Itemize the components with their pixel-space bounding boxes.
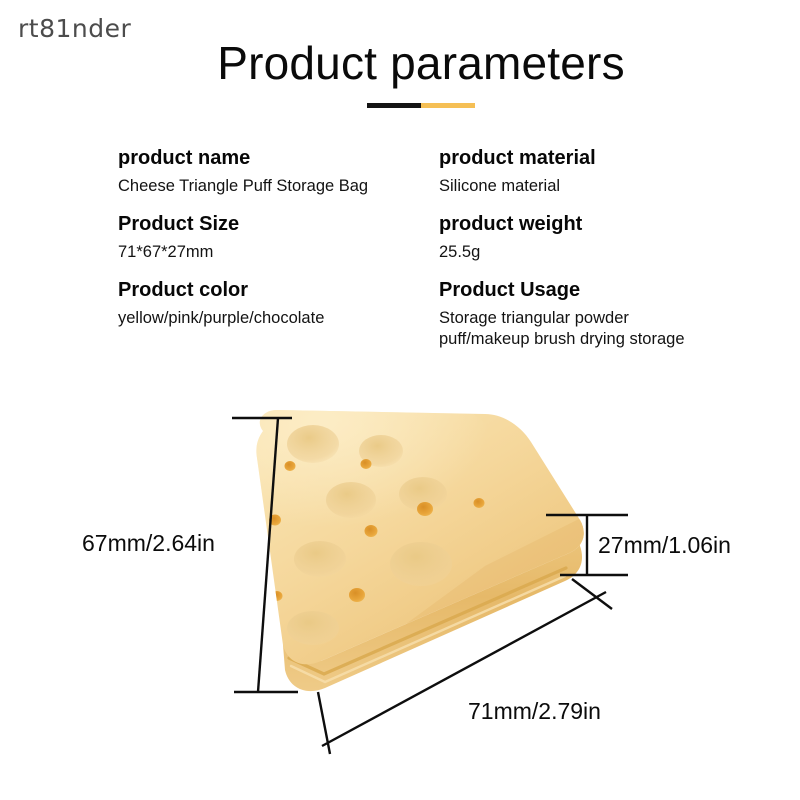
- cheese-hole: [474, 498, 485, 508]
- spec-label: product material: [439, 145, 752, 172]
- spec-cell-product-material: product material Silicone material: [438, 145, 758, 197]
- spec-row: Product Size 71*67*27mm product weight 2…: [118, 211, 778, 263]
- spec-label: product name: [118, 145, 432, 172]
- cheese-hole: [365, 525, 378, 537]
- cheese-dimple: [390, 542, 452, 586]
- product-parameters-table: product name Cheese Triangle Puff Storag…: [118, 145, 778, 364]
- spec-cell-product-size: Product Size 71*67*27mm: [118, 211, 438, 263]
- spec-cell-product-color: Product color yellow/pink/purple/chocola…: [118, 277, 438, 350]
- page-header: Product parameters: [0, 38, 800, 108]
- spec-label: Product Size: [118, 211, 432, 238]
- divider-segment-dark: [367, 103, 421, 108]
- dim-height-label: 67mm/2.64in: [82, 530, 215, 556]
- cheese-dimple: [287, 425, 339, 463]
- spec-value: yellow/pink/purple/chocolate: [118, 308, 432, 329]
- product-dimension-figure: 67mm/2.64in 27mm/1.06in 71mm/2.79in: [0, 396, 800, 800]
- spec-value: 25.5g: [439, 242, 752, 263]
- cheese-hole: [417, 502, 433, 516]
- cheese-hole: [285, 461, 296, 471]
- spec-value: Storage triangular powder puff/makeup br…: [439, 308, 752, 350]
- spec-value: Cheese Triangle Puff Storage Bag: [118, 176, 432, 197]
- cheese-dimple: [326, 482, 376, 518]
- dim-width-label: 71mm/2.79in: [468, 698, 601, 724]
- spec-cell-product-usage: Product Usage Storage triangular powder …: [438, 277, 758, 350]
- spec-value: 71*67*27mm: [118, 242, 432, 263]
- spec-cell-product-name: product name Cheese Triangle Puff Storag…: [118, 145, 438, 197]
- page-title: Product parameters: [0, 38, 800, 89]
- spec-label: product weight: [439, 211, 752, 238]
- cheese-hole: [361, 459, 372, 469]
- cheese-hole: [272, 591, 283, 601]
- spec-row: Product color yellow/pink/purple/chocola…: [118, 277, 778, 350]
- spec-cell-product-weight: product weight 25.5g: [438, 211, 758, 263]
- spec-row: product name Cheese Triangle Puff Storag…: [118, 145, 778, 197]
- spec-label: Product Usage: [439, 277, 752, 304]
- title-divider: [325, 103, 475, 108]
- spec-value: Silicone material: [439, 176, 752, 197]
- cheese-dimple: [287, 611, 339, 645]
- spec-label: Product color: [118, 277, 432, 304]
- dim-width-tick-right: [572, 579, 612, 609]
- dim-depth-label: 27mm/1.06in: [598, 532, 731, 558]
- cheese-hole: [349, 588, 365, 602]
- cheese-dimple: [294, 541, 346, 577]
- divider-segment-accent: [421, 103, 475, 108]
